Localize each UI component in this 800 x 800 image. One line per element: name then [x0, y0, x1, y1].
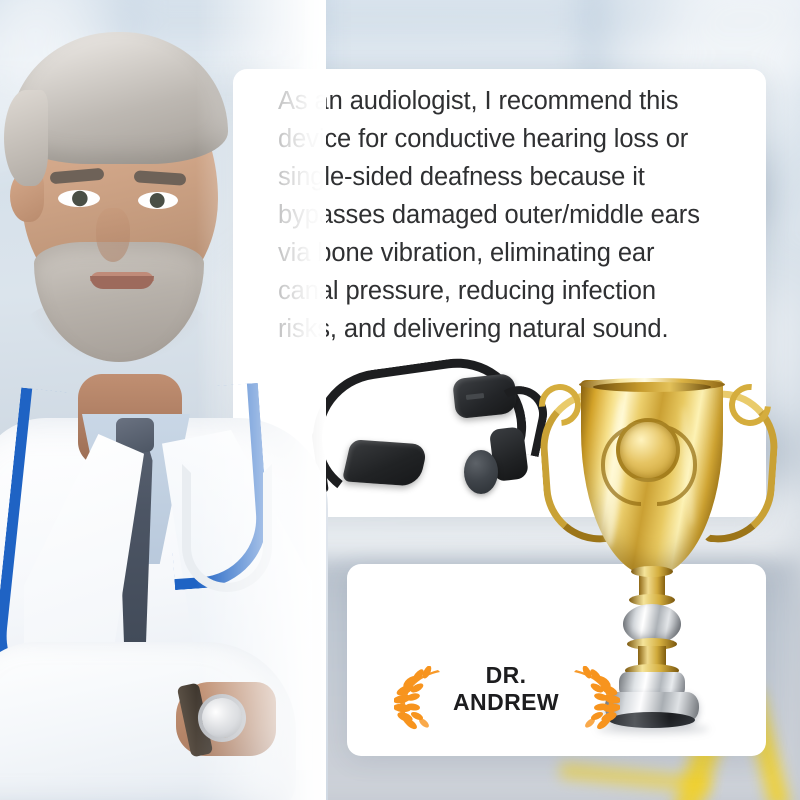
quote-line: As an audiologist, I recommend this [278, 82, 742, 120]
badge-name-line-1: DR. [440, 662, 572, 689]
promo-graphic: As an audiologist, I recommend this devi… [0, 0, 800, 800]
doctor-name-badge: DR. ANDREW [398, 662, 614, 734]
quote-line: bypasses damaged outer/middle ears [278, 196, 742, 234]
quote-line: via bone vibration, eliminating ear [278, 234, 742, 272]
eye-right [138, 192, 178, 209]
smile [90, 276, 154, 289]
badge-name: DR. ANDREW [440, 662, 572, 716]
bone-conduction-headphones-image [302, 358, 552, 523]
trophy-collar [631, 566, 673, 577]
laurel-wreath-right-icon [564, 666, 620, 730]
testimonial-quote: As an audiologist, I recommend this devi… [278, 82, 742, 348]
trophy-emblem-ring [616, 418, 680, 482]
photo-edge-fade [196, 0, 326, 800]
quote-line: canal pressure, reducing infection [278, 272, 742, 310]
sideburn [4, 90, 48, 186]
eye-left [58, 190, 100, 207]
headphone-transducer [464, 450, 498, 494]
nose [96, 208, 130, 262]
headphone-left-pod [342, 439, 429, 486]
quote-line: single-sided deafness because it [278, 158, 742, 196]
trophy-cup-interior [593, 382, 711, 392]
quote-line: risks, and delivering natural sound. [278, 310, 742, 348]
badge-name-line-2: ANDREW [440, 689, 572, 716]
doctor-portrait-image [0, 0, 316, 800]
quote-line: device for conductive hearing loss or [278, 120, 742, 158]
